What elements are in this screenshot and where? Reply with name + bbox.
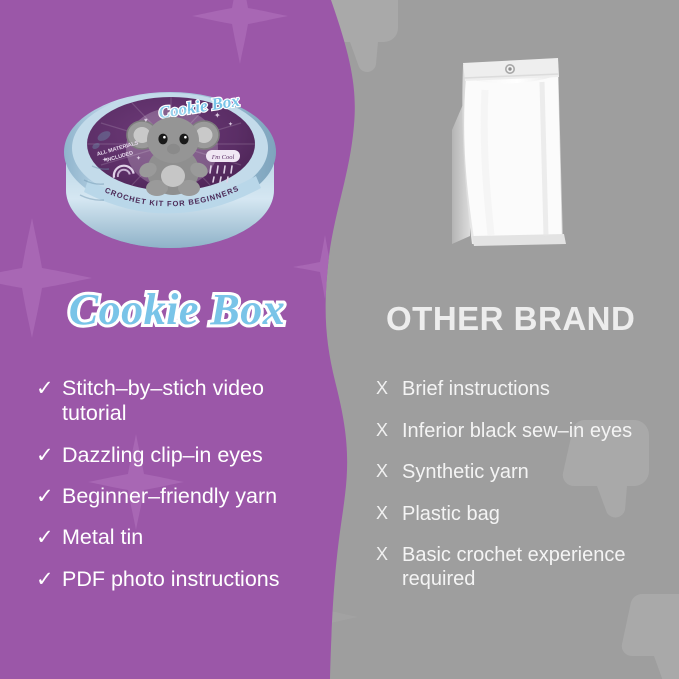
brand-logo-cookie-box: Cookie Box — [52, 278, 302, 340]
list-item-label: Dazzling clip–in eyes — [62, 443, 263, 468]
list-item-label: Basic crochet experience required — [402, 544, 636, 591]
star-doodle: ✦ — [102, 156, 108, 164]
list-item: X Plastic bag — [376, 503, 636, 527]
list-item: ✓ PDF photo instructions — [36, 567, 326, 592]
x-icon: X — [376, 420, 402, 441]
svg-text:✦: ✦ — [228, 121, 233, 128]
other-brand-feature-list: X Brief instructions X Inferior black se… — [376, 378, 636, 610]
x-icon: X — [376, 503, 402, 524]
product-image-bag — [430, 30, 610, 270]
list-item-label: Plastic bag — [402, 503, 500, 527]
speech-bubble-text: I'm Cool — [211, 154, 235, 161]
product-image-tin: Cookie Box — [58, 40, 288, 265]
list-item: ✓ Dazzling clip–in eyes — [36, 443, 326, 468]
check-icon: ✓ — [36, 377, 62, 402]
list-item: X Brief instructions — [376, 378, 636, 402]
list-item-label: Metal tin — [62, 525, 143, 550]
x-icon: X — [376, 461, 402, 482]
check-icon: ✓ — [36, 485, 62, 510]
check-icon: ✓ — [36, 526, 62, 551]
list-item: ✓ Stitch–by–stich video tutorial — [36, 376, 326, 427]
other-brand-heading: OTHER BRAND — [386, 300, 666, 338]
list-item-label: Beginner–friendly yarn — [62, 484, 277, 509]
check-icon: ✓ — [36, 444, 62, 469]
list-item: ✓ Metal tin — [36, 525, 326, 550]
svg-text:♥: ♥ — [144, 118, 148, 124]
cookie-box-feature-list: ✓ Stitch–by–stich video tutorial ✓ Dazzl… — [36, 376, 326, 608]
list-item: X Inferior black sew–in eyes — [376, 420, 636, 444]
list-item-label: Stitch–by–stich video tutorial — [62, 376, 326, 427]
x-icon: X — [376, 544, 402, 565]
list-item: X Synthetic yarn — [376, 461, 636, 485]
list-item-label: Inferior black sew–in eyes — [402, 420, 632, 444]
list-item: ✓ Beginner–friendly yarn — [36, 484, 326, 509]
brand-logo-text: Cookie Box — [69, 285, 285, 334]
list-item-label: Brief instructions — [402, 378, 550, 402]
check-icon: ✓ — [36, 568, 62, 593]
list-item-label: PDF photo instructions — [62, 567, 280, 592]
svg-text:✦: ✦ — [214, 111, 221, 120]
svg-text:✦: ✦ — [136, 155, 141, 162]
list-item-label: Synthetic yarn — [402, 461, 529, 485]
comparison-infographic: Cookie Box — [0, 0, 679, 679]
x-icon: X — [376, 378, 402, 399]
list-item: X Basic crochet experience required — [376, 544, 636, 591]
